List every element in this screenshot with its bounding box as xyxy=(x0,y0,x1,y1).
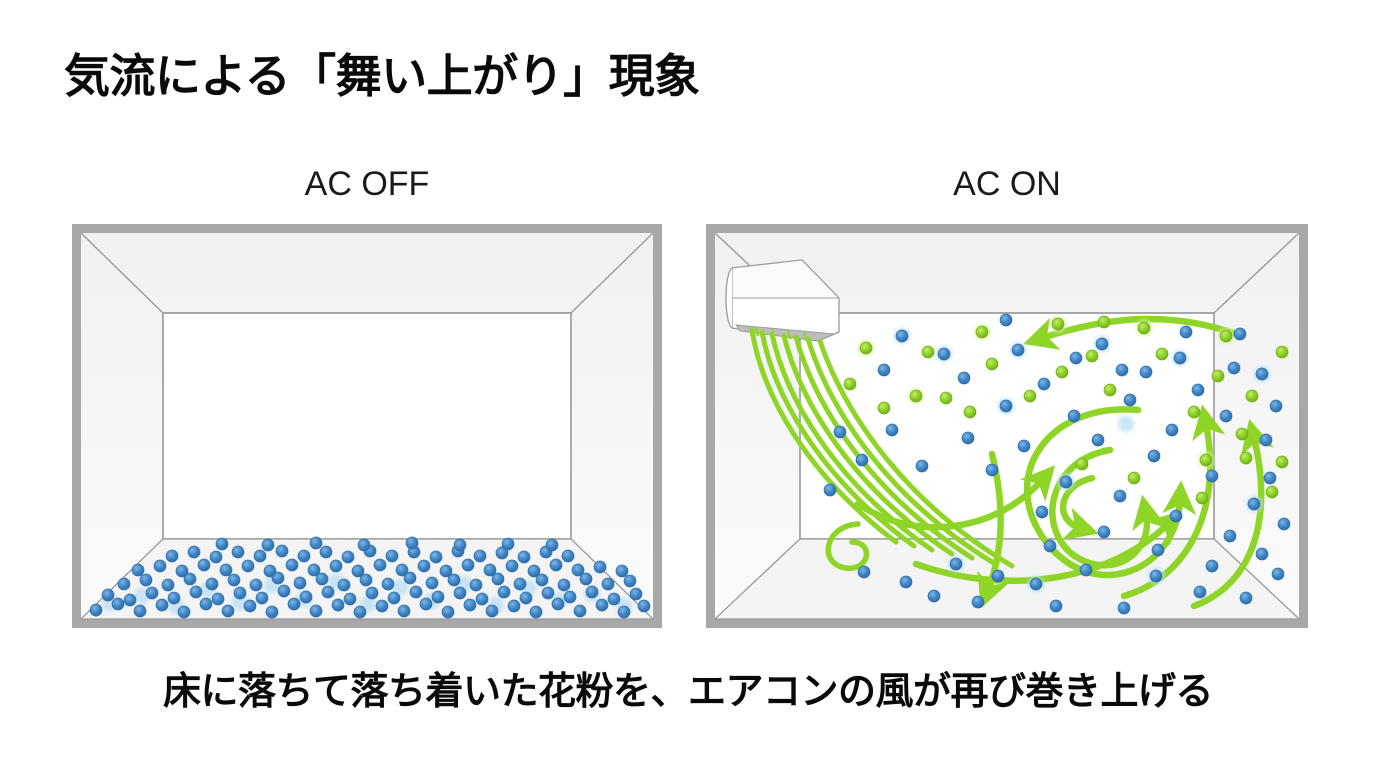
page-title: 気流による「舞い上がり」現象 xyxy=(64,52,700,102)
room-diagram-ac-off xyxy=(72,224,662,628)
caption-text: 床に落ちて落ち着いた花粉を、エアコンの風が再び巻き上げる xyxy=(0,660,1376,715)
slide-canvas: 気流による「舞い上がり」現象 AC OFF AC ON xyxy=(0,0,1376,768)
room-diagram-ac-on xyxy=(706,224,1308,628)
panel-label-ac-on: AC ON xyxy=(706,165,1308,204)
panel-label-ac-off: AC OFF xyxy=(72,165,662,204)
